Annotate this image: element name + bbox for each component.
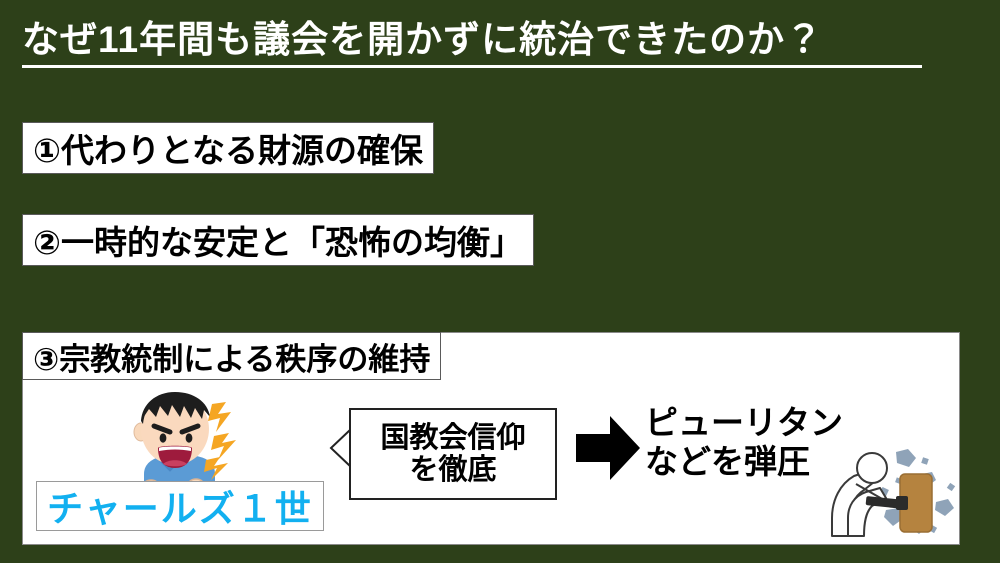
point-box-3: ③宗教統制による秩序の維持 bbox=[22, 332, 441, 380]
point-label-2: ②一時的な安定と「恐怖の均衡」 bbox=[33, 216, 523, 264]
right-arrow-icon bbox=[576, 414, 640, 482]
result-line-1: ピューリタン bbox=[645, 404, 843, 443]
charles-name-box: チャールズ１世 bbox=[36, 481, 324, 531]
smashing-hammer-person-icon bbox=[826, 444, 958, 540]
result-line-2: などを弾圧 bbox=[645, 443, 843, 482]
speech-bubble-body: 国教会信仰 を徹底 bbox=[349, 408, 557, 500]
suppression-result-text: ピューリタン などを弾圧 bbox=[645, 404, 843, 482]
bubble-line-1: 国教会信仰 bbox=[380, 422, 525, 454]
speech-bubble: 国教会信仰 を徹底 bbox=[331, 408, 557, 500]
charles-name-label: チャールズ１世 bbox=[47, 480, 313, 532]
point-label-1: ①代わりとなる財源の確保 bbox=[33, 124, 423, 172]
point-box-1: ①代わりとなる財源の確保 bbox=[22, 122, 434, 174]
page-title: なぜ11年間も議会を開かずに統治できたのか？ bbox=[22, 18, 922, 68]
point-box-2: ②一時的な安定と「恐怖の均衡」 bbox=[22, 214, 534, 266]
slide-root: なぜ11年間も議会を開かずに統治できたのか？ ①代わりとなる財源の確保 ②一時的… bbox=[0, 0, 1000, 563]
point-label-3: ③宗教統制による秩序の維持 bbox=[33, 334, 430, 379]
bubble-line-2: を徹底 bbox=[409, 454, 496, 486]
